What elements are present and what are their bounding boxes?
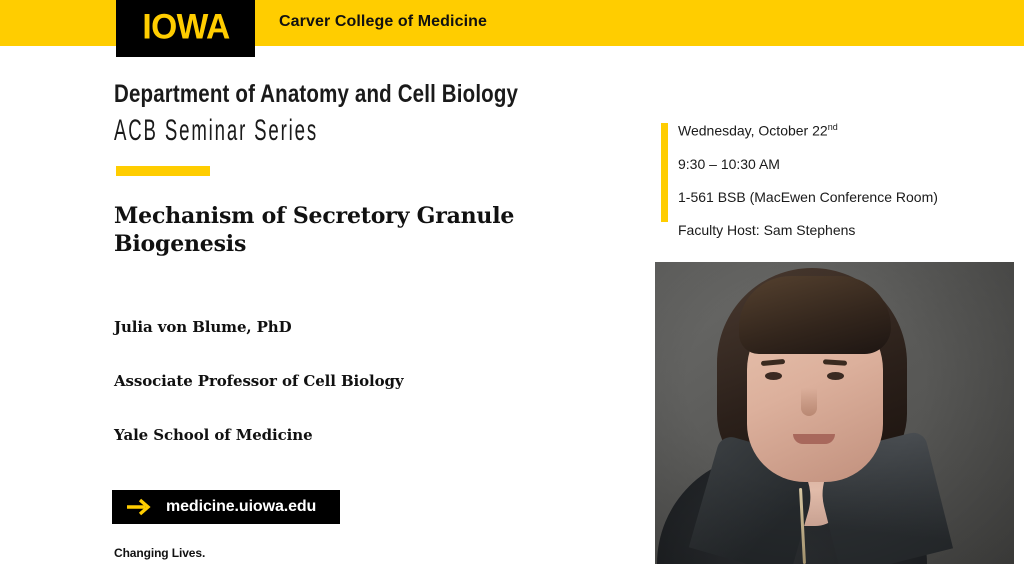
photo-vignette — [655, 262, 1014, 564]
event-date-text: Wednesday, October 22 — [678, 123, 828, 139]
event-details: Wednesday, October 22nd 9:30 – 10:30 AM … — [661, 123, 938, 237]
gold-divider-rule — [116, 166, 210, 176]
talk-title: Mechanism of Secretory Granule Biogenesi… — [114, 203, 544, 259]
header-title: Carver College of Medicine — [279, 13, 487, 31]
event-detail-lines: Wednesday, October 22nd 9:30 – 10:30 AM … — [678, 123, 938, 237]
website-url-label: medicine.uiowa.edu — [166, 498, 316, 516]
speaker-photo-frame — [653, 260, 1016, 566]
iowa-logo-text: IOWA — [142, 10, 229, 45]
speaker-institution: Yale School of Medicine — [114, 426, 584, 444]
department-name: Department of Anatomy and Cell Biology — [114, 80, 518, 109]
event-location: 1-561 BSB (MacEwen Conference Room) — [678, 190, 938, 204]
tagline: Changing Lives. — [114, 546, 205, 560]
event-date-ordinal: nd — [828, 122, 838, 132]
seminar-series-title: ACB Seminar Series — [114, 114, 318, 148]
speaker-photo — [655, 262, 1014, 564]
iowa-logo: IOWA — [116, 0, 255, 57]
speaker-name: Julia von Blume, PhD — [114, 318, 584, 336]
arrow-right-icon — [126, 498, 152, 516]
website-cta-button[interactable]: medicine.uiowa.edu — [112, 490, 340, 524]
event-date: Wednesday, October 22nd — [678, 123, 938, 138]
event-time: 9:30 – 10:30 AM — [678, 157, 938, 171]
gold-accent-bar — [661, 123, 668, 222]
speaker-rank: Associate Professor of Cell Biology — [114, 372, 584, 390]
event-faculty-host: Faculty Host: Sam Stephens — [678, 223, 938, 237]
speaker-block: Julia von Blume, PhD Associate Professor… — [114, 318, 584, 444]
